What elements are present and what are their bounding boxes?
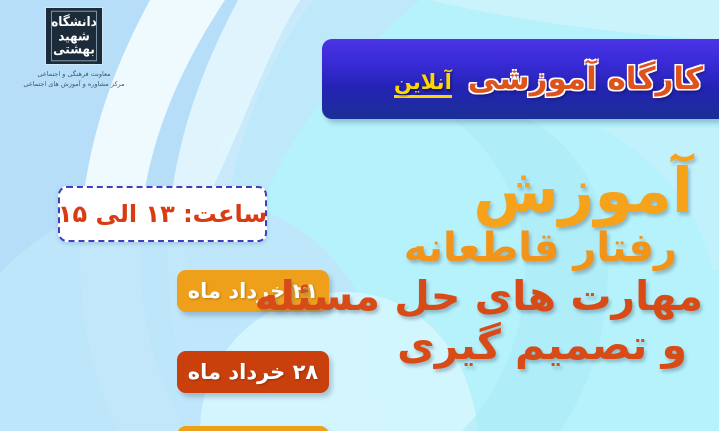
heading-line-2: رفتار قاطعانه bbox=[307, 228, 707, 268]
emblem-calligraphy: دانشگاه شهید بهشتی bbox=[51, 11, 97, 62]
poster-canvas: دانشگاه شهید بهشتی معاونت فرهنگی و اجتما… bbox=[0, 0, 719, 431]
time-box: ساعت: ۱۳ الی ۱۵ bbox=[58, 186, 267, 242]
date-badge: ۴ تیر ماه bbox=[177, 426, 329, 431]
heading-line-3: مهارت های حل مسئله bbox=[307, 276, 707, 317]
headings-group: آموزش رفتار قاطعانه مهارت های حل مسئله و… bbox=[307, 160, 707, 366]
logo-caption: معاونت فرهنگی و اجتماعی مرکز مشاوره و آم… bbox=[23, 69, 124, 89]
logo-caption-line-2: مرکز مشاوره و آموزش های اجتماعی bbox=[23, 79, 124, 89]
university-logo: دانشگاه شهید بهشتی معاونت فرهنگی و اجتما… bbox=[14, 8, 134, 89]
banner-content: کارگاه آموزشی آنلاین bbox=[340, 61, 703, 98]
time-label: ساعت: ۱۳ الی ۱۵ bbox=[58, 200, 267, 228]
logo-caption-line-1: معاونت فرهنگی و اجتماعی bbox=[23, 69, 124, 79]
banner-subtitle-online: آنلاین bbox=[394, 70, 452, 98]
banner-title: کارگاه آموزشی bbox=[468, 61, 703, 97]
university-emblem-icon: دانشگاه شهید بهشتی bbox=[46, 8, 102, 64]
heading-line-1: آموزش bbox=[307, 160, 707, 222]
workshop-banner: کارگاه آموزشی آنلاین bbox=[322, 39, 719, 119]
date-badge-label: ۲۸ خرداد ماه bbox=[188, 360, 319, 384]
heading-line-4: و تصمیم گیری bbox=[307, 325, 707, 366]
